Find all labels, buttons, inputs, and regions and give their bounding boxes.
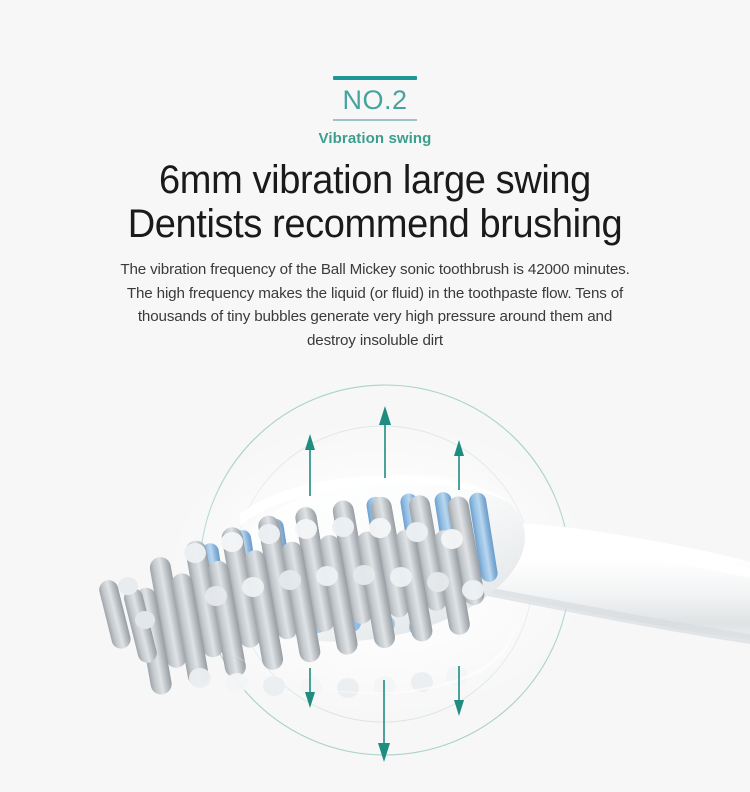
headline-line-1: 6mm vibration large swing bbox=[19, 158, 732, 202]
headline: 6mm vibration large swing Dentists recom… bbox=[19, 158, 732, 246]
badge-rule-top bbox=[333, 76, 417, 80]
product-feature-slide: NO.2 Vibration swing 6mm vibration large… bbox=[0, 0, 750, 792]
section-badge: NO.2 Vibration swing bbox=[0, 76, 750, 147]
badge-rule-bottom bbox=[333, 119, 417, 121]
body-line-4: destroy insoluble dirt bbox=[34, 329, 716, 353]
body-line-3: thousands of tiny bubbles generate very … bbox=[34, 305, 716, 329]
headline-line-2: Dentists recommend brushing bbox=[19, 202, 732, 246]
body-line-1: The vibration frequency of the Ball Mick… bbox=[34, 258, 716, 282]
body-paragraph: The vibration frequency of the Ball Mick… bbox=[34, 258, 716, 352]
badge-subtitle: Vibration swing bbox=[0, 130, 750, 147]
bristle-left-strays bbox=[97, 573, 159, 670]
badge-number: NO.2 bbox=[0, 85, 750, 115]
body-line-2: The high frequency makes the liquid (or … bbox=[34, 282, 716, 306]
product-illustration bbox=[0, 378, 750, 792]
